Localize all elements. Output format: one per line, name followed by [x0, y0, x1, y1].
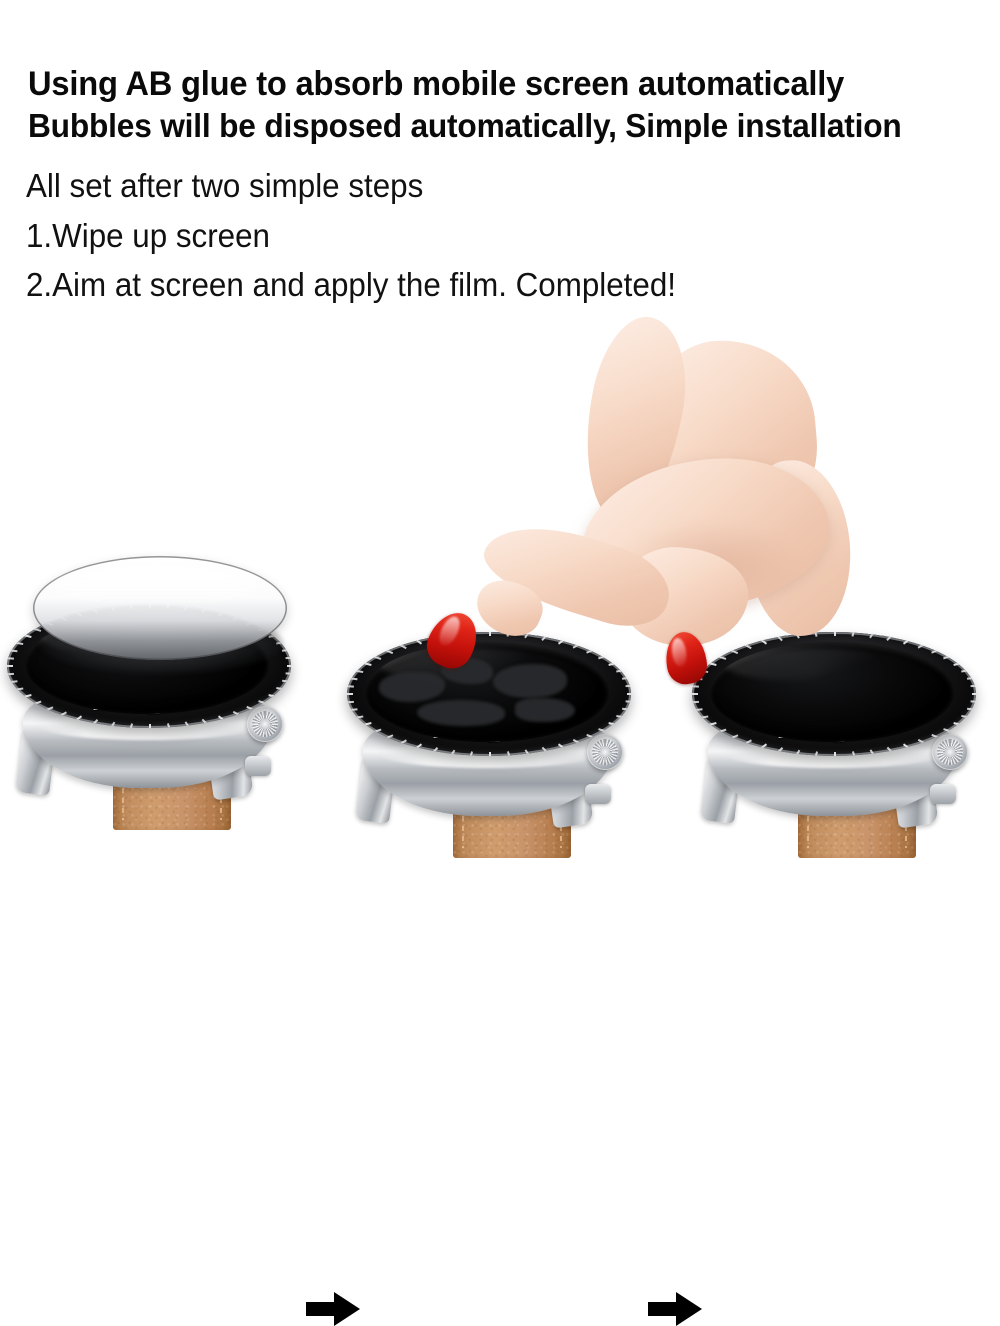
bezel-tick [282, 680, 289, 682]
bezel-tick [507, 751, 511, 756]
bubble [417, 700, 505, 726]
arrow-shaft [306, 1302, 336, 1316]
bezel-tick [469, 751, 473, 756]
bezel-tick [347, 701, 354, 703]
bezel-tick [795, 750, 800, 756]
bezel-tick [931, 650, 938, 654]
bezel-tick [110, 722, 115, 728]
bezel-tick [258, 701, 265, 705]
bezel-tick [73, 715, 82, 723]
bezel-tick [558, 743, 567, 751]
infographic-page: Using AB glue to absorb mobile screen au… [0, 0, 1000, 1000]
bezel-tick [953, 662, 963, 666]
bezel-tick [692, 693, 698, 695]
bezel-tick [350, 677, 357, 679]
headline-line-2: Bubbles will be disposed automatically, … [28, 106, 902, 146]
right-arrow-icon [648, 1292, 704, 1326]
bezel-tick [356, 670, 363, 673]
bezel-tick [450, 750, 455, 756]
bezel-tick [21, 634, 31, 638]
bezel-tick [852, 751, 856, 756]
bezel-tick [695, 708, 702, 710]
bezel-tick [626, 685, 631, 687]
bezel-tick [46, 706, 53, 710]
bezel-tick [202, 719, 208, 725]
bezel-tick [814, 751, 818, 756]
bezel-tick [616, 715, 623, 718]
bezel-tick [233, 711, 240, 716]
bezel-tick [758, 743, 767, 751]
bezel-tick [777, 747, 783, 753]
bezel-tick [967, 677, 974, 679]
bezel-tick [185, 722, 190, 728]
bezel-tick [834, 752, 836, 756]
watch-pusher-button [585, 784, 611, 804]
bezel-tick [21, 694, 31, 698]
bezel-tick [218, 715, 227, 723]
hand-pressing-film [470, 310, 850, 680]
arrow-head [676, 1292, 702, 1326]
arrow-shaft [648, 1302, 678, 1316]
bezel-tick [608, 722, 618, 726]
bezel-tick [246, 706, 253, 710]
bezel-tick [432, 747, 438, 753]
bezel-tick [356, 715, 363, 718]
bezel-tick [34, 701, 41, 705]
headline-line-1: Using AB glue to absorb mobile screen au… [28, 64, 844, 104]
arrow-head [334, 1292, 360, 1326]
bezel-tick [852, 632, 856, 637]
bezel-tick [286, 673, 291, 675]
bezel-tick [10, 649, 17, 651]
bezel-tick [525, 750, 530, 756]
bezel-tick [413, 743, 422, 751]
bezel-tick [961, 670, 968, 673]
bezel-tick [887, 635, 893, 641]
bezel-tick [347, 685, 354, 687]
bezel-tick [972, 693, 976, 695]
bezel-tick [870, 750, 875, 756]
bezel-tick [622, 708, 629, 710]
bezel-tick [918, 739, 925, 744]
bezel-tick [870, 632, 875, 638]
bezel-tick [745, 739, 752, 744]
bezel-tick [961, 715, 968, 718]
bezel-tick [16, 642, 23, 645]
bezel-tick [92, 719, 98, 725]
bezel-tick [16, 687, 23, 690]
bubble [515, 698, 575, 722]
instructions-intro: All set after two simple steps [26, 166, 423, 206]
bezel-tick [719, 729, 726, 733]
bezel-tick [489, 752, 491, 756]
bezel-tick [971, 701, 976, 703]
bezel-tick [731, 734, 738, 738]
bezel-tick [10, 680, 17, 682]
bezel-tick [626, 701, 631, 703]
screen-protector-film [33, 556, 287, 660]
bezel-tick [627, 693, 631, 695]
bezel-tick [943, 729, 950, 733]
bezel-tick [967, 708, 974, 710]
bezel-tick [931, 734, 938, 738]
bezel-tick [903, 637, 912, 645]
bezel-tick [692, 701, 699, 703]
bezel-tick [268, 694, 278, 698]
bezel-tick [149, 724, 151, 728]
bezel-tick [7, 665, 13, 667]
bezel-tick [286, 657, 291, 659]
bezel-tick [287, 665, 291, 667]
bezel-tick [282, 649, 289, 651]
watch-pusher-button [930, 784, 956, 804]
bezel-tick [701, 715, 708, 718]
instructions-step-1: 1.Wipe up screen [26, 216, 270, 256]
bezel-tick [7, 673, 14, 675]
bezel-tick [692, 685, 699, 687]
watch-step-1: 16 14 12 10 [0, 560, 325, 860]
bezel-tick [276, 687, 283, 690]
bezel-tick [943, 656, 950, 660]
bezel-tick [60, 711, 67, 716]
bezel-tick [971, 685, 976, 687]
bezel-tick [706, 722, 716, 726]
bezel-tick [167, 723, 171, 728]
right-arrow-icon [306, 1292, 362, 1326]
bezel-tick [7, 657, 14, 659]
bezel-tick [903, 743, 912, 751]
bezel-tick [350, 708, 357, 710]
bubble [379, 672, 445, 702]
bezel-tick [34, 628, 41, 632]
bezel-tick [347, 693, 353, 695]
instructions-step-2: 2.Aim at screen and apply the film. Comp… [26, 265, 676, 305]
bezel-tick [953, 722, 963, 726]
watch-pusher-button [245, 756, 271, 776]
bezel-tick [918, 644, 925, 649]
bezel-tick [887, 747, 893, 753]
bezel-tick [129, 723, 133, 728]
bezel-tick [542, 747, 548, 753]
